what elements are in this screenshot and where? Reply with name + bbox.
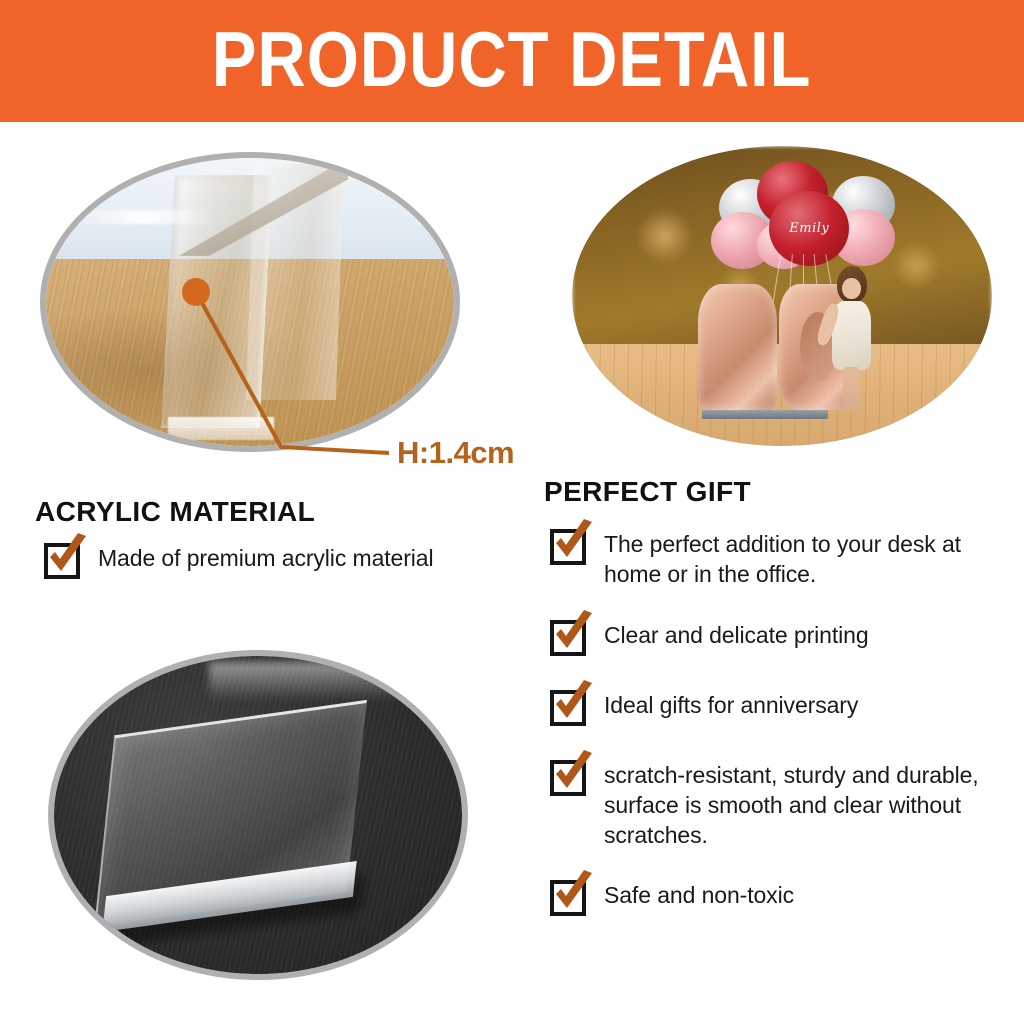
check-mark-icon [548,519,596,565]
height-callout-label: H:1.4cm [397,435,514,471]
birthday-photo-inner: Emily [572,146,992,446]
checkbox-checked-icon [546,872,596,920]
list-item-label: Safe and non-toxic [604,872,794,911]
page-header-banner: PRODUCT DETAIL [0,0,1024,122]
check-mark-icon [548,870,596,916]
list-item: scratch-resistant, sturdy and durable, s… [546,752,1006,851]
list-item: Ideal gifts for anniversary [546,682,1006,730]
acrylic-slate-photo [48,650,468,980]
checkbox-checked-icon [546,752,596,800]
gift-section-heading: PERFECT GIFT [544,476,751,508]
list-item: Clear and delicate printing [546,612,1006,660]
list-item: Made of premium acrylic material [40,535,520,583]
acrylic-section-heading: ACRYLIC MATERIAL [35,496,315,528]
digit-two-balloon [698,284,777,410]
number-balloon-stand [702,410,828,419]
acrylic-feature-list: Made of premium acrylic material [40,535,520,583]
gift-feature-list: The perfect addition to your desk at hom… [546,521,1006,942]
list-item-label: scratch-resistant, sturdy and durable, s… [604,752,1006,851]
acrylic-edge-photo-inner [46,158,454,446]
list-item-label: Ideal gifts for anniversary [604,682,858,721]
product-detail-page: PRODUCT DETAIL Emily [0,0,1024,1024]
checkbox-checked-icon [546,612,596,660]
check-mark-icon [548,750,596,796]
checkbox-checked-icon [40,535,90,583]
list-item: Safe and non-toxic [546,872,1006,920]
birthday-photo: Emily [572,146,992,446]
acrylic-block-glare [70,210,217,224]
acrylic-block-base [168,417,274,440]
slate-highlight [209,662,397,700]
woman-face [842,278,861,300]
woman-figure [824,266,879,410]
list-item-label: The perfect addition to your desk at hom… [604,521,1006,590]
check-mark-icon [548,680,596,726]
checkbox-checked-icon [546,521,596,569]
check-mark-icon [42,533,90,579]
acrylic-edge-photo [40,152,460,452]
list-item-label: Clear and delicate printing [604,612,869,651]
balloon-name-text: Emily [789,221,829,236]
page-title: PRODUCT DETAIL [212,20,812,98]
list-item-label: Made of premium acrylic material [98,535,434,574]
list-item: The perfect addition to your desk at hom… [546,521,1006,590]
woman-legs [843,367,860,410]
acrylic-slate-photo-inner [54,656,462,974]
check-mark-icon [548,610,596,656]
checkbox-checked-icon [546,682,596,730]
